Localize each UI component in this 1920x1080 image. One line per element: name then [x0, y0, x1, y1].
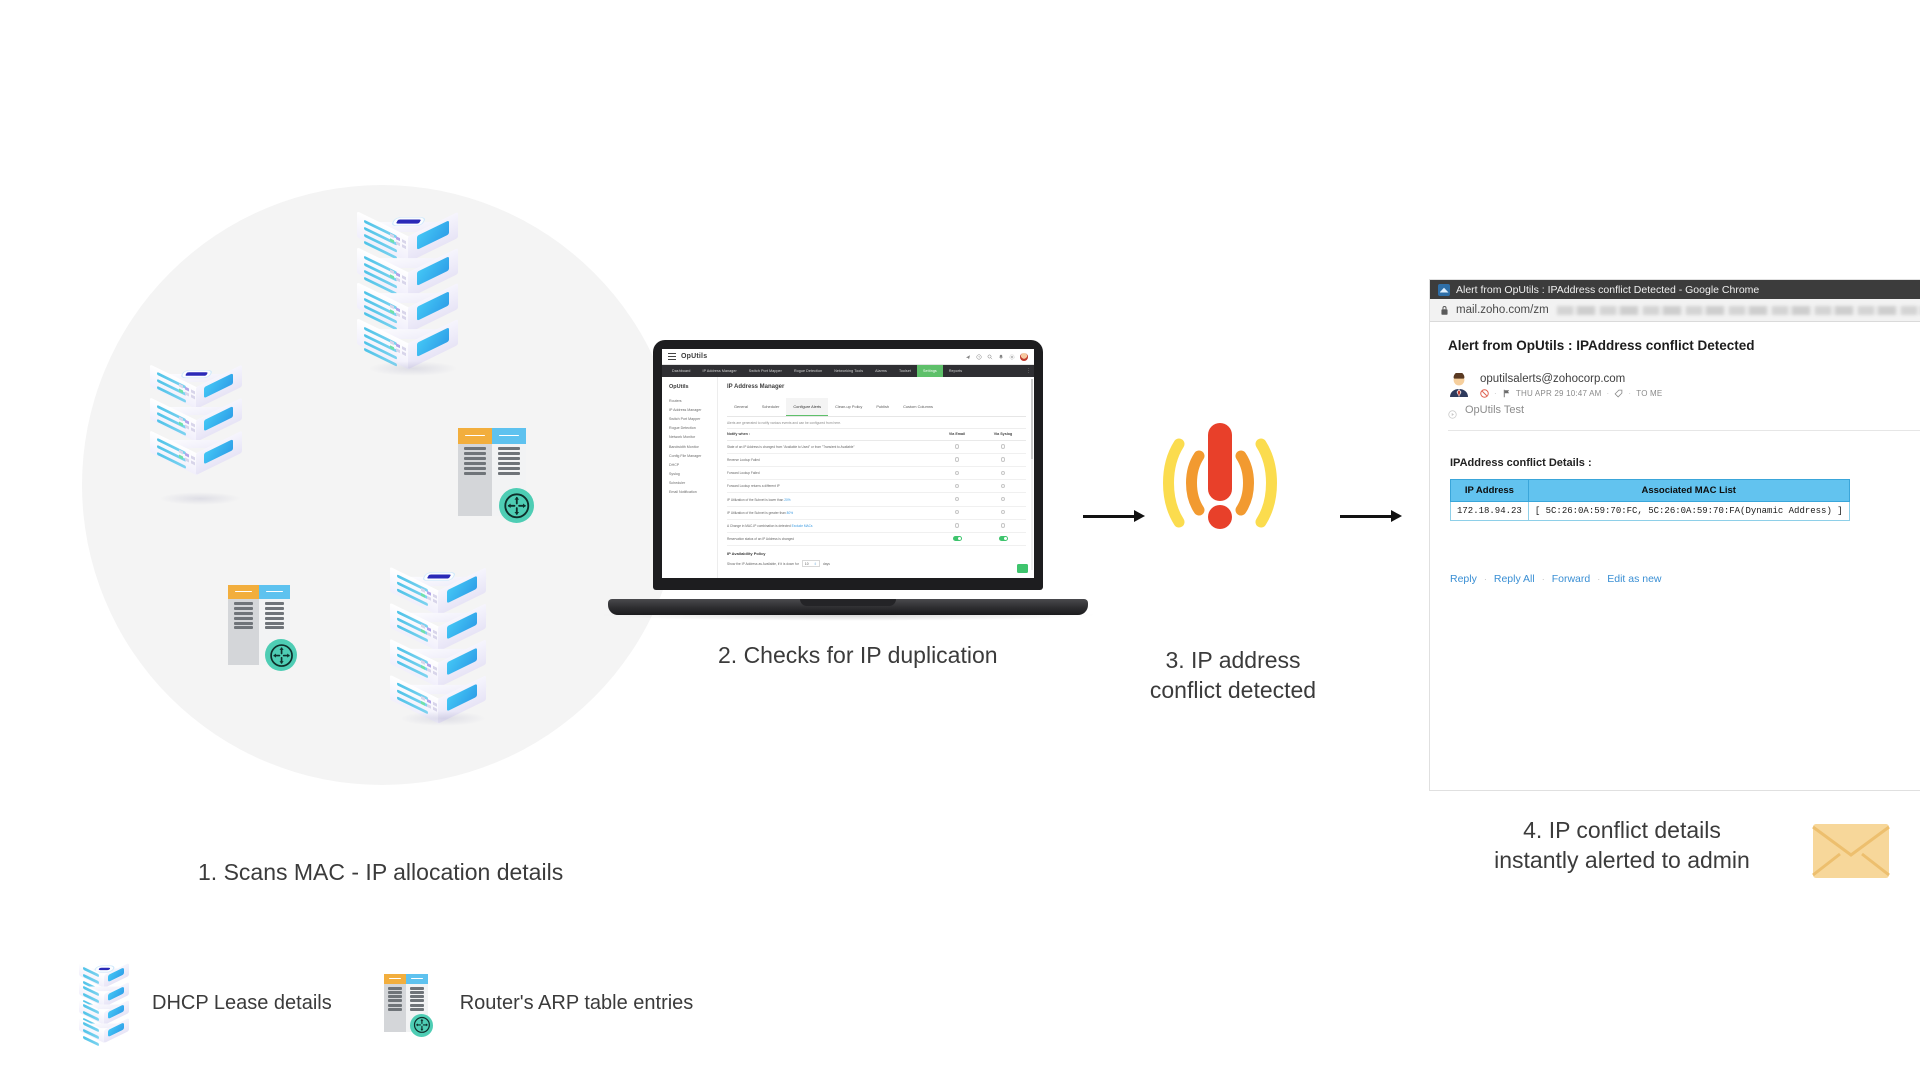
table-row: IP Utilization of the Subnet is greater … [727, 506, 1026, 519]
app-header: OpUtils ? [662, 349, 1034, 365]
sidebar-item-routers[interactable]: Routers [669, 396, 717, 405]
email-radio[interactable] [934, 440, 980, 453]
laptop-lid: OpUtils ? Dashboard IP Address Manager [653, 340, 1043, 590]
sidebar-item-switch-port-mapper[interactable]: Switch Port Mapper [669, 414, 717, 423]
days-value: 10 [805, 562, 809, 566]
threshold-link[interactable]: 80% [787, 511, 793, 515]
col-associated-mac-list: Associated MAC List [1528, 480, 1849, 502]
browser-window: Alert from OpUtils : IPAddress conflict … [1430, 280, 1920, 790]
settings-icon[interactable] [1009, 354, 1015, 360]
exclude-macs-link[interactable]: Exclude MACs [792, 524, 813, 528]
col-ip-address: IP Address [1451, 480, 1529, 502]
table-row: State of an IP Address is changed from "… [727, 440, 1026, 453]
router-badge-icon [265, 639, 297, 671]
alert-label: State of an IP Address is changed from "… [727, 440, 934, 453]
days-stepper[interactable]: 10⇳ [802, 560, 820, 567]
email-radio[interactable] [934, 506, 980, 519]
email-body: Alert from OpUtils : IPAddress conflict … [1430, 322, 1920, 585]
settings-tabs: General Scheduler Configure Alerts Clean… [727, 398, 1026, 417]
threshold-link[interactable]: 20% [784, 498, 790, 502]
sidebar-item-ip-address-manager[interactable]: IP Address Manager [669, 405, 717, 414]
email-radio[interactable] [934, 453, 980, 466]
col-via-syslog: Via Syslog [980, 429, 1026, 440]
syslog-radio[interactable] [980, 480, 1026, 493]
url-text: mail.zoho.com/zm [1456, 304, 1549, 316]
table-row: Reverse Lookup Failed [727, 453, 1026, 466]
alert-label: Reverse Lookup Failed [727, 453, 934, 466]
tab-general[interactable]: General [727, 398, 755, 416]
alert-label: Forward Lookup returns a different IP [727, 480, 934, 493]
tab-custom-columns[interactable]: Custom Columns [896, 398, 940, 416]
notification-icon[interactable] [998, 354, 1004, 360]
legend-item-dhcp: DHCP Lease details [78, 965, 332, 1041]
cell-ip-address: 172.18.94.23 [1451, 502, 1529, 521]
syslog-radio[interactable] [980, 453, 1026, 466]
table-row: A Change in MAC-IP combination is detect… [727, 519, 1026, 532]
alert-label: IP Utilization of the Subnet is greater … [727, 506, 934, 519]
email-radio[interactable] [934, 480, 980, 493]
save-button[interactable] [1017, 564, 1028, 573]
oputils-app: OpUtils ? Dashboard IP Address Manager [662, 349, 1034, 578]
col-via-email: Via Email [934, 429, 980, 440]
router-badge-icon [410, 1014, 433, 1037]
alert-label-text: IP Utilization of the Subnet is lower th… [727, 498, 783, 502]
syslog-toggle[interactable] [980, 532, 1026, 545]
policy-heading: IP Availability Policy [727, 546, 1026, 560]
sidebar-item-bandwidth-monitor[interactable]: Bandwidth Monitor [669, 442, 717, 451]
server-stack-icon [148, 368, 243, 500]
step-2-caption: 2. Checks for IP duplication [718, 640, 998, 670]
email-recipient: TO ME [1636, 389, 1662, 398]
email-radio[interactable] [934, 493, 980, 506]
nav-overflow-icon[interactable]: ⋮ [1026, 368, 1031, 374]
url-redacted [1557, 306, 1920, 315]
envelope-icon [1812, 823, 1890, 879]
legend: DHCP Lease details Router's ARP table en… [78, 965, 693, 1041]
table-row: Forward Lookup returns a different IP [727, 480, 1026, 493]
nav-item-dashboard[interactable]: Dashboard [666, 365, 696, 377]
table-row: IP Utilization of the Subnet is lower th… [727, 493, 1026, 506]
lock-icon [1440, 305, 1449, 316]
zoho-mail-icon [1438, 284, 1450, 296]
router-arp-table-icon [228, 585, 290, 665]
details-heading: IPAddress conflict Details : [1450, 457, 1920, 469]
sidebar-item-network-monitor[interactable]: Network Monitor [669, 433, 717, 442]
sidebar-item-dhcp[interactable]: DHCP [669, 460, 717, 469]
syslog-radio[interactable] [980, 440, 1026, 453]
reply-all-button[interactable]: Reply All [1494, 573, 1535, 585]
syslog-radio[interactable] [980, 506, 1026, 519]
syslog-radio[interactable] [980, 519, 1026, 532]
tab-clean-up-policy[interactable]: Clean-up Policy [828, 398, 869, 416]
announcement-icon[interactable] [965, 354, 971, 360]
legend-label-arp: Router's ARP table entries [460, 992, 694, 1015]
syslog-radio[interactable] [980, 467, 1026, 480]
step-1-caption: 1. Scans MAC - IP allocation details [198, 857, 563, 887]
sidebar-item-rogue-detection[interactable]: Rogue Detection [669, 424, 717, 433]
laptop-screen: OpUtils ? Dashboard IP Address Manager [662, 349, 1034, 578]
flag-icon[interactable] [1502, 389, 1511, 398]
table-header-row: Notify when : Via Email Via Syslog [727, 429, 1026, 440]
syslog-radio[interactable] [980, 493, 1026, 506]
address-bar[interactable]: mail.zoho.com/zm [1430, 299, 1920, 322]
nav-item-alarms[interactable]: Alarms [869, 365, 893, 377]
diagram-canvas: OpUtils ? Dashboard IP Address Manager [0, 0, 1920, 1080]
email-toggle[interactable] [934, 532, 980, 545]
nav-item-networking-tools[interactable]: Networking Tools [828, 365, 869, 377]
nav-item-toolset[interactable]: Toolset [893, 365, 917, 377]
server-stack-icon [78, 965, 130, 1041]
table-row: 172.18.94.23 [ 5C:26:0A:59:70:FC, 5C:26:… [1451, 502, 1850, 521]
user-avatar-icon[interactable] [1020, 353, 1028, 361]
router-badge-icon [499, 488, 534, 523]
step-4-caption: 4. IP conflict details instantly alerted… [1492, 815, 1752, 876]
app-sidebar: OpUtils Routers IP Address Manager Switc… [662, 377, 718, 578]
flow-arrow [1083, 510, 1145, 522]
legend-label-dhcp: DHCP Lease details [152, 992, 332, 1015]
laptop-mockup: OpUtils ? Dashboard IP Address Manager [608, 340, 1088, 615]
menu-icon[interactable] [668, 353, 676, 360]
sender-email: oputilsalerts@zohocorp.com [1480, 373, 1662, 385]
svg-text:?: ? [978, 355, 980, 359]
alert-label: A Change in MAC-IP combination is detect… [727, 519, 934, 532]
email-actions: Reply · Reply All · Forward · Edit as ne… [1450, 573, 1920, 585]
server-stack-icon [355, 215, 460, 370]
edit-as-new-button[interactable]: Edit as new [1607, 573, 1661, 585]
alert-label-text: A Change in MAC-IP combination is detect… [727, 524, 791, 528]
forward-button[interactable]: Forward [1552, 573, 1591, 585]
col-notify-when: Notify when : [727, 429, 934, 440]
sidebar-title: OpUtils [669, 384, 717, 390]
alerts-hint: Alerts are generated to notify various e… [727, 417, 1026, 429]
nav-item-settings[interactable]: Settings [917, 365, 943, 377]
sidebar-item-email-notification[interactable]: Email Notification [669, 488, 717, 497]
sender-avatar [1448, 373, 1470, 397]
blocked-icon [1480, 389, 1489, 398]
flow-arrow [1340, 510, 1402, 522]
legend-item-arp: Router's ARP table entries [384, 974, 694, 1032]
search-icon[interactable] [987, 354, 993, 360]
table-row: Reservation status of an IP Address is c… [727, 532, 1026, 545]
alert-exclamation-icon [1155, 418, 1285, 543]
alert-label: Forward Lookup Failed [727, 467, 934, 480]
app-nav: Dashboard IP Address Manager Switch Port… [662, 365, 1034, 377]
policy-row: Show the IP Address as Available, if it … [727, 560, 1026, 567]
email-subject: Alert from OpUtils : IPAddress conflict … [1448, 338, 1920, 353]
sidebar-item-config-file-manager[interactable]: Config File Manager [669, 451, 717, 460]
thread-label: OpUtils Test [1465, 404, 1524, 416]
email-date: THU APR 29 10:47 AM [1516, 389, 1602, 398]
email-sender-block: oputilsalerts@zohocorp.com · THU APR 29 … [1448, 373, 1920, 398]
email-radio[interactable] [934, 519, 980, 532]
step-3-caption: 3. IP address conflict detected [1128, 645, 1338, 706]
scrollbar[interactable] [1031, 379, 1033, 570]
nav-item-reports[interactable]: Reports [943, 365, 968, 377]
email-meta: · THU APR 29 10:47 AM · · TO ME [1480, 389, 1662, 398]
policy-label-after: days [823, 562, 830, 566]
ip-conflict-table: IP Address Associated MAC List 172.18.94… [1450, 479, 1850, 521]
reply-button[interactable]: Reply [1450, 573, 1477, 585]
nav-item-switch-port-mapper[interactable]: Switch Port Mapper [743, 365, 788, 377]
nav-item-rogue-detection[interactable]: Rogue Detection [788, 365, 828, 377]
app-main: IP Address Manager General Scheduler Con… [718, 377, 1034, 578]
router-arp-table-icon [458, 428, 526, 516]
window-title: Alert from OpUtils : IPAddress conflict … [1456, 284, 1759, 296]
policy-label-before: Show the IP Address as Available, if it … [727, 562, 799, 566]
sidebar-item-syslog[interactable]: Syslog [669, 470, 717, 479]
help-icon[interactable]: ? [976, 354, 982, 360]
server-stack-icon [388, 570, 488, 720]
sidebar-item-scheduler[interactable]: Scheduler [669, 479, 717, 488]
page-title: IP Address Manager [727, 384, 1026, 390]
table-header-row: IP Address Associated MAC List [1451, 480, 1850, 502]
tab-publish[interactable]: Publish [869, 398, 896, 416]
alerts-table: Notify when : Via Email Via Syslog State… [727, 429, 1026, 546]
nav-item-ip-address-manager[interactable]: IP Address Manager [696, 365, 742, 377]
expand-icon[interactable] [1448, 406, 1457, 415]
tag-icon[interactable] [1614, 389, 1623, 398]
browser-title-bar: Alert from OpUtils : IPAddress conflict … [1430, 280, 1920, 299]
email-thread-row: OpUtils Test [1448, 404, 1920, 416]
email-radio[interactable] [934, 467, 980, 480]
table-row: Forward Lookup Failed [727, 467, 1026, 480]
alert-label-text: IP Utilization of the Subnet is greater … [727, 511, 786, 515]
app-logo: OpUtils [681, 353, 707, 360]
router-arp-table-icon [384, 974, 428, 1032]
tab-configure-alerts[interactable]: Configure Alerts [786, 398, 828, 416]
tab-scheduler[interactable]: Scheduler [755, 398, 787, 416]
alert-label: Reservation status of an IP Address is c… [727, 532, 934, 545]
cell-mac-list: [ 5C:26:0A:59:70:FC, 5C:26:0A:59:70:FA(D… [1528, 502, 1849, 521]
alert-label: IP Utilization of the Subnet is lower th… [727, 493, 934, 506]
